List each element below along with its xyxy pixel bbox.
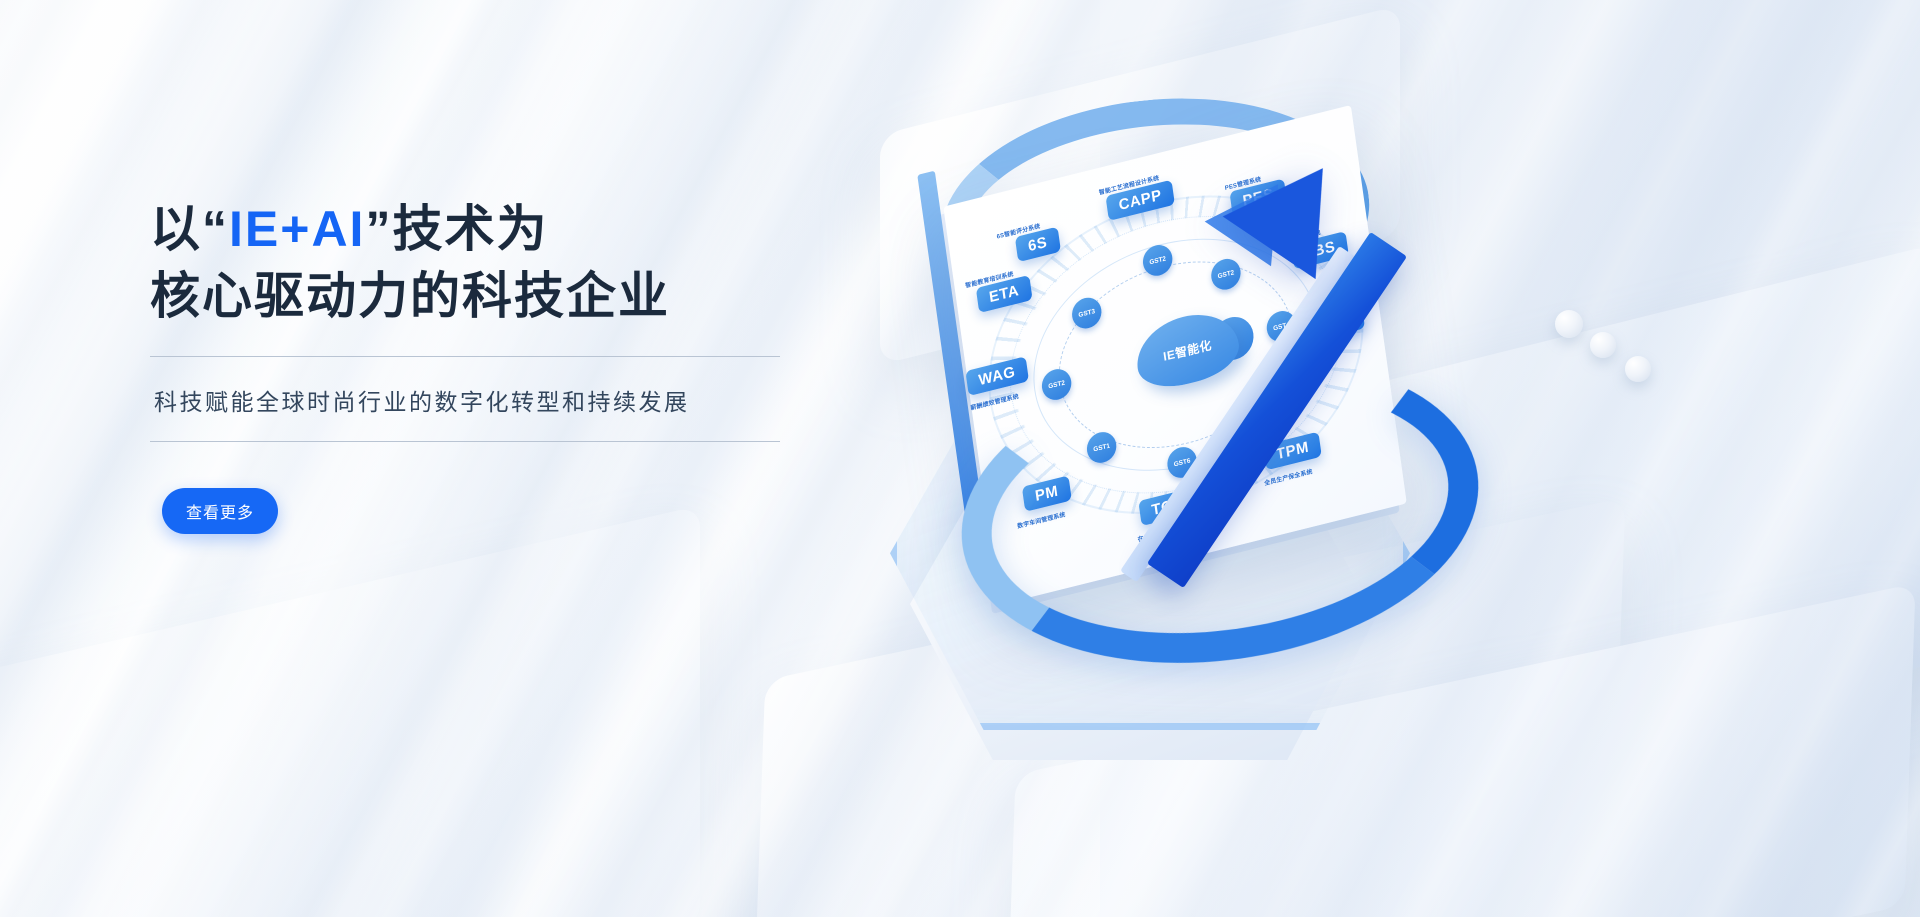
page-subtitle: 科技赋能全球时尚行业的数字化转型和持续发展 <box>150 357 850 441</box>
decor-sphere <box>1625 356 1651 382</box>
headline-pre: 以 <box>150 201 202 257</box>
decor-sphere <box>1590 332 1616 358</box>
decor-sphere <box>1555 310 1583 338</box>
headline-quote-open: “ <box>202 201 229 257</box>
divider-bottom <box>150 441 780 442</box>
hero-banner: 以“IE+AI”技术为 核心驱动力的科技企业 科技赋能全球时尚行业的数字化转型和… <box>0 0 1920 917</box>
hero-copy: 以“IE+AI”技术为 核心驱动力的科技企业 科技赋能全球时尚行业的数字化转型和… <box>150 196 850 534</box>
view-more-button[interactable]: 查看更多 <box>162 488 278 534</box>
headline-highlight: IE+AI <box>229 201 365 257</box>
hero-illustration: IE智能化 GST2 GST3 GST2 GST2 GST4 GST1 GST5… <box>850 60 1920 900</box>
background-terrace-left <box>0 505 700 917</box>
headline-quote-close: ” <box>365 201 392 257</box>
headline-line2: 核心驱动力的科技企业 <box>150 263 850 330</box>
page-title: 以“IE+AI”技术为 核心驱动力的科技企业 <box>150 196 850 330</box>
headline-post: 技术为 <box>392 201 548 257</box>
